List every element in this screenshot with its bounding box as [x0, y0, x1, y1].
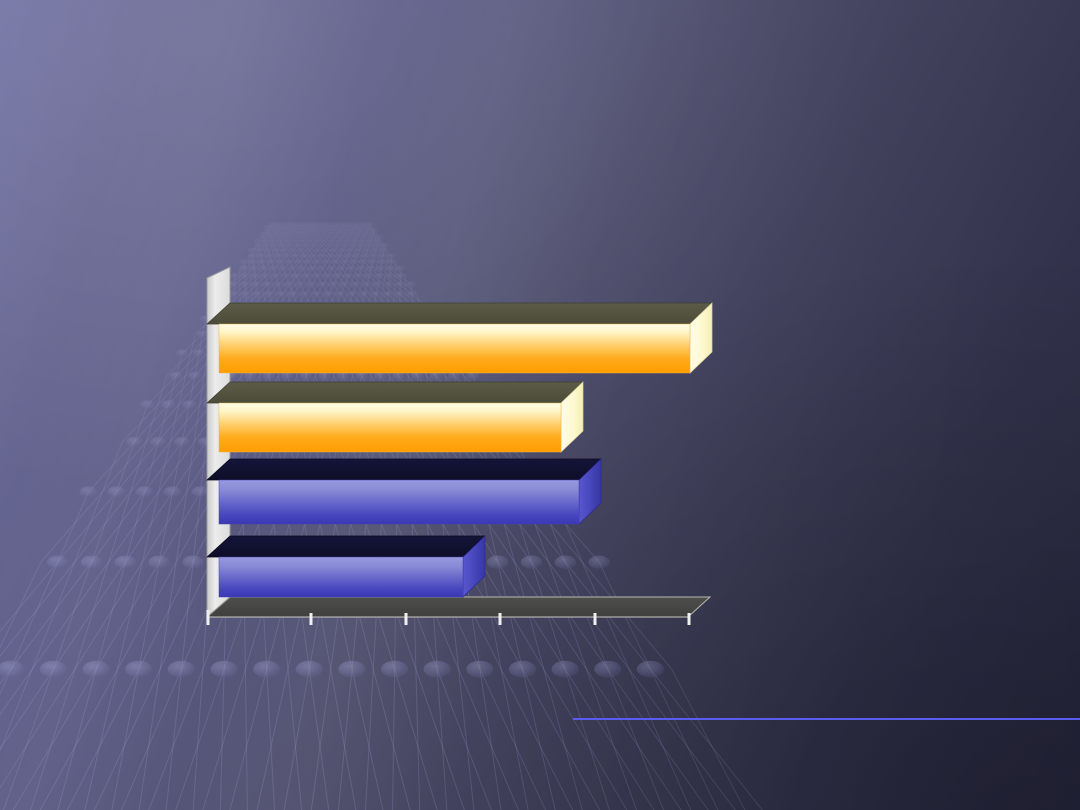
- slide-canvas: [0, 0, 1080, 810]
- accent-rule: [573, 718, 1080, 720]
- bar-blue-short[interactable]: [207, 536, 485, 597]
- bar-orange-short[interactable]: [207, 382, 583, 452]
- chart-floor: [207, 597, 710, 617]
- bar-blue-long[interactable]: [207, 459, 601, 524]
- bar-chart[interactable]: [0, 0, 1080, 810]
- bar-orange-long[interactable]: [207, 303, 712, 373]
